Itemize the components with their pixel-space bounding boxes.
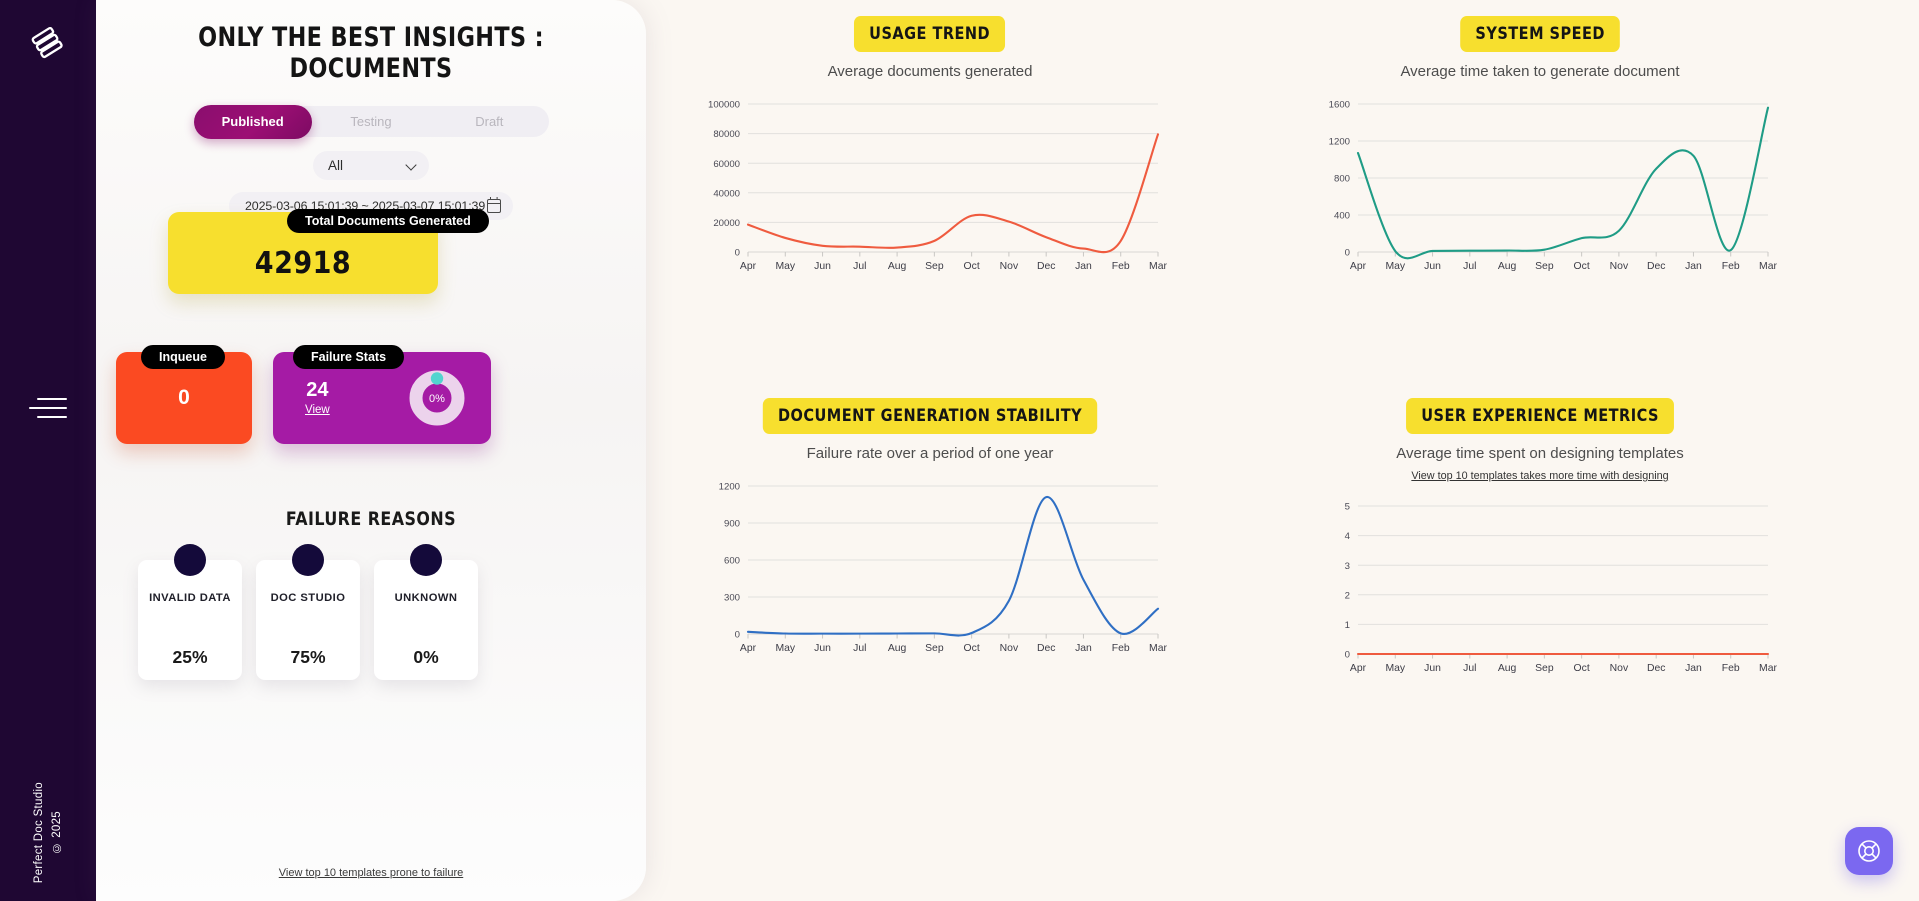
svg-text:Nov: Nov <box>1610 663 1629 674</box>
reason-dot-icon <box>410 544 442 576</box>
failure-reason-percent: 25% <box>172 647 207 668</box>
failure-reason-label: INVALID DATA <box>149 592 231 604</box>
svg-text:Aug: Aug <box>1498 261 1517 272</box>
svg-text:80000: 80000 <box>713 129 740 140</box>
chart-card-stability: DOCUMENT GENERATION STABILITY Failure ra… <box>690 398 1170 666</box>
left-panel: ONLY THE BEST INSIGHTS : DOCUMENTS Publi… <box>96 0 646 901</box>
svg-text:Feb: Feb <box>1112 261 1130 272</box>
svg-text:60000: 60000 <box>713 159 740 170</box>
ux-metrics-link[interactable]: View top 10 templates takes more time wi… <box>1300 470 1780 482</box>
svg-text:Oct: Oct <box>964 261 980 272</box>
svg-text:Jul: Jul <box>1463 261 1476 272</box>
svg-text:2: 2 <box>1345 590 1350 601</box>
dashboard-root: © 2025 Perfect Doc Studio ONLY THE BEST … <box>0 0 1919 901</box>
svg-text:Apr: Apr <box>740 261 757 272</box>
svg-text:Sep: Sep <box>1535 261 1554 272</box>
charts-area: USAGE TREND Average documents generated … <box>660 0 1919 901</box>
svg-text:Jan: Jan <box>1075 643 1092 654</box>
chart-card-usage-trend: USAGE TREND Average documents generated … <box>690 16 1170 284</box>
lifebuoy-help-icon <box>1856 838 1882 864</box>
svg-text:Jun: Jun <box>814 261 831 272</box>
svg-text:Sep: Sep <box>1535 663 1554 674</box>
chart-card-ux-metrics: USER EXPERIENCE METRICS Average time spe… <box>1300 398 1780 686</box>
chart-badge: DOCUMENT GENERATION STABILITY <box>763 398 1098 434</box>
chart-badge: SYSTEM SPEED <box>1460 16 1620 52</box>
svg-text:0: 0 <box>735 630 740 641</box>
failure-reason-percent: 0% <box>413 647 438 668</box>
inqueue-label: Inqueue <box>141 345 225 369</box>
chart-subtitle: Average time taken to generate document <box>1300 63 1780 80</box>
svg-text:Jan: Jan <box>1075 261 1092 272</box>
failure-reasons-list: INVALID DATA 25% DOC STUDIO 75% UNKNOWN … <box>138 560 478 680</box>
svg-text:Mar: Mar <box>1149 643 1167 654</box>
app-logo[interactable] <box>20 14 76 70</box>
chart-card-system-speed: SYSTEM SPEED Average time taken to gener… <box>1300 16 1780 284</box>
svg-text:Oct: Oct <box>1574 663 1590 674</box>
failure-reason-card[interactable]: UNKNOWN 0% <box>374 560 478 680</box>
failure-reason-label: DOC STUDIO <box>271 592 346 604</box>
svg-text:400: 400 <box>1334 211 1350 222</box>
tab-published[interactable]: Published <box>194 105 312 139</box>
failure-reasons-title: FAILURE REASONS <box>115 508 627 530</box>
svg-text:0: 0 <box>1345 650 1350 661</box>
plot-system-speed[interactable]: 040080012001600AprMayJunJulAugSepOctNovD… <box>1300 94 1780 284</box>
svg-text:Nov: Nov <box>1000 643 1019 654</box>
svg-text:Feb: Feb <box>1722 261 1740 272</box>
view-top-templates-link[interactable]: View top 10 templates prone to failure <box>96 867 646 879</box>
svg-text:Jul: Jul <box>853 261 866 272</box>
chart-badge: USER EXPERIENCE METRICS <box>1406 398 1674 434</box>
sidebar: © 2025 Perfect Doc Studio <box>0 0 96 901</box>
svg-text:Aug: Aug <box>888 261 907 272</box>
svg-text:Oct: Oct <box>964 643 980 654</box>
svg-text:Sep: Sep <box>925 643 944 654</box>
svg-text:Dec: Dec <box>1037 261 1055 272</box>
chart-badge: USAGE TREND <box>854 16 1005 52</box>
svg-text:May: May <box>1385 261 1405 272</box>
chart-subtitle: Average documents generated <box>690 63 1170 80</box>
svg-text:Jan: Jan <box>1685 261 1702 272</box>
svg-text:900: 900 <box>724 519 740 530</box>
svg-text:Apr: Apr <box>1350 663 1367 674</box>
filter-select-value: All <box>328 158 407 173</box>
svg-text:Jun: Jun <box>1424 261 1441 272</box>
svg-text:Aug: Aug <box>888 643 907 654</box>
svg-text:40000: 40000 <box>713 188 740 199</box>
status-tabs: Published Testing Draft <box>194 106 549 137</box>
copyright-name: Perfect Doc Studio <box>33 782 45 883</box>
svg-text:Nov: Nov <box>1610 261 1629 272</box>
calendar-icon <box>487 199 501 213</box>
svg-text:Jun: Jun <box>1424 663 1441 674</box>
inqueue-value: 0 <box>178 386 190 410</box>
svg-text:Sep: Sep <box>925 261 944 272</box>
copyright-year: © 2025 <box>51 811 63 854</box>
svg-text:Apr: Apr <box>1350 261 1367 272</box>
plot-stability[interactable]: 03006009001200AprMayJunJulAugSepOctNovDe… <box>690 476 1170 666</box>
svg-text:800: 800 <box>1334 174 1350 185</box>
svg-text:Mar: Mar <box>1759 261 1777 272</box>
svg-text:Dec: Dec <box>1647 663 1665 674</box>
svg-text:3: 3 <box>1345 561 1350 572</box>
svg-text:Mar: Mar <box>1759 663 1777 674</box>
total-documents-value: 42918 <box>255 246 351 281</box>
failure-reason-percent: 75% <box>290 647 325 668</box>
plot-usage-trend[interactable]: 020000400006000080000100000AprMayJunJulA… <box>690 94 1170 284</box>
svg-text:600: 600 <box>724 556 740 567</box>
total-documents-label: Total Documents Generated <box>287 209 489 233</box>
chevron-down-icon <box>407 160 418 171</box>
svg-text:Oct: Oct <box>1574 261 1590 272</box>
svg-text:0: 0 <box>1345 248 1350 259</box>
svg-text:Jun: Jun <box>814 643 831 654</box>
svg-text:1200: 1200 <box>719 482 740 493</box>
donut-center-label: 0% <box>429 393 445 405</box>
svg-text:1600: 1600 <box>1329 100 1350 111</box>
svg-text:Apr: Apr <box>740 643 757 654</box>
svg-text:100000: 100000 <box>708 100 740 111</box>
chart-subtitle: Average time spent on designing template… <box>1300 445 1780 462</box>
failure-stats-label: Failure Stats <box>293 345 404 369</box>
svg-text:300: 300 <box>724 593 740 604</box>
tab-draft[interactable]: Draft <box>430 106 548 137</box>
help-support-button[interactable] <box>1845 827 1893 875</box>
failure-stats-view-link[interactable]: View <box>305 404 330 416</box>
svg-text:Mar: Mar <box>1149 261 1167 272</box>
svg-text:May: May <box>1385 663 1405 674</box>
svg-text:Jul: Jul <box>1463 663 1476 674</box>
svg-text:Jan: Jan <box>1685 663 1702 674</box>
plot-ux-metrics[interactable]: 012345AprMayJunJulAugSepOctNovDecJanFebM… <box>1300 496 1780 686</box>
svg-text:Nov: Nov <box>1000 261 1019 272</box>
chart-subtitle: Failure rate over a period of one year <box>690 445 1170 462</box>
svg-text:Feb: Feb <box>1112 643 1130 654</box>
filter-select[interactable]: All <box>313 151 429 180</box>
failure-stats-value: 24 <box>306 380 328 400</box>
svg-text:5: 5 <box>1345 502 1350 513</box>
reason-dot-icon <box>174 544 206 576</box>
failure-reason-card[interactable]: DOC STUDIO 75% <box>256 560 360 680</box>
svg-text:4: 4 <box>1345 531 1351 542</box>
layers-logo-icon <box>26 20 70 64</box>
svg-text:1: 1 <box>1345 620 1350 631</box>
failure-reason-card[interactable]: INVALID DATA 25% <box>138 560 242 680</box>
failure-reason-label: UNKNOWN <box>395 592 458 604</box>
sidebar-copyright: © 2025 Perfect Doc Studio <box>33 782 63 883</box>
failure-rate-donut: 0% <box>409 370 465 426</box>
failure-stats-count-block: 24 View <box>305 380 330 416</box>
hamburger-menu-icon[interactable] <box>29 398 67 418</box>
svg-text:Dec: Dec <box>1647 261 1665 272</box>
svg-text:Jul: Jul <box>853 643 866 654</box>
svg-text:May: May <box>775 261 795 272</box>
svg-text:1200: 1200 <box>1329 137 1350 148</box>
svg-text:Feb: Feb <box>1722 663 1740 674</box>
page-title: ONLY THE BEST INSIGHTS : DOCUMENTS <box>118 22 624 84</box>
svg-text:0: 0 <box>735 248 740 259</box>
svg-text:Aug: Aug <box>1498 663 1517 674</box>
tab-testing[interactable]: Testing <box>312 106 430 137</box>
svg-text:20000: 20000 <box>713 218 740 229</box>
reason-dot-icon <box>292 544 324 576</box>
svg-text:Dec: Dec <box>1037 643 1055 654</box>
svg-text:May: May <box>775 643 795 654</box>
